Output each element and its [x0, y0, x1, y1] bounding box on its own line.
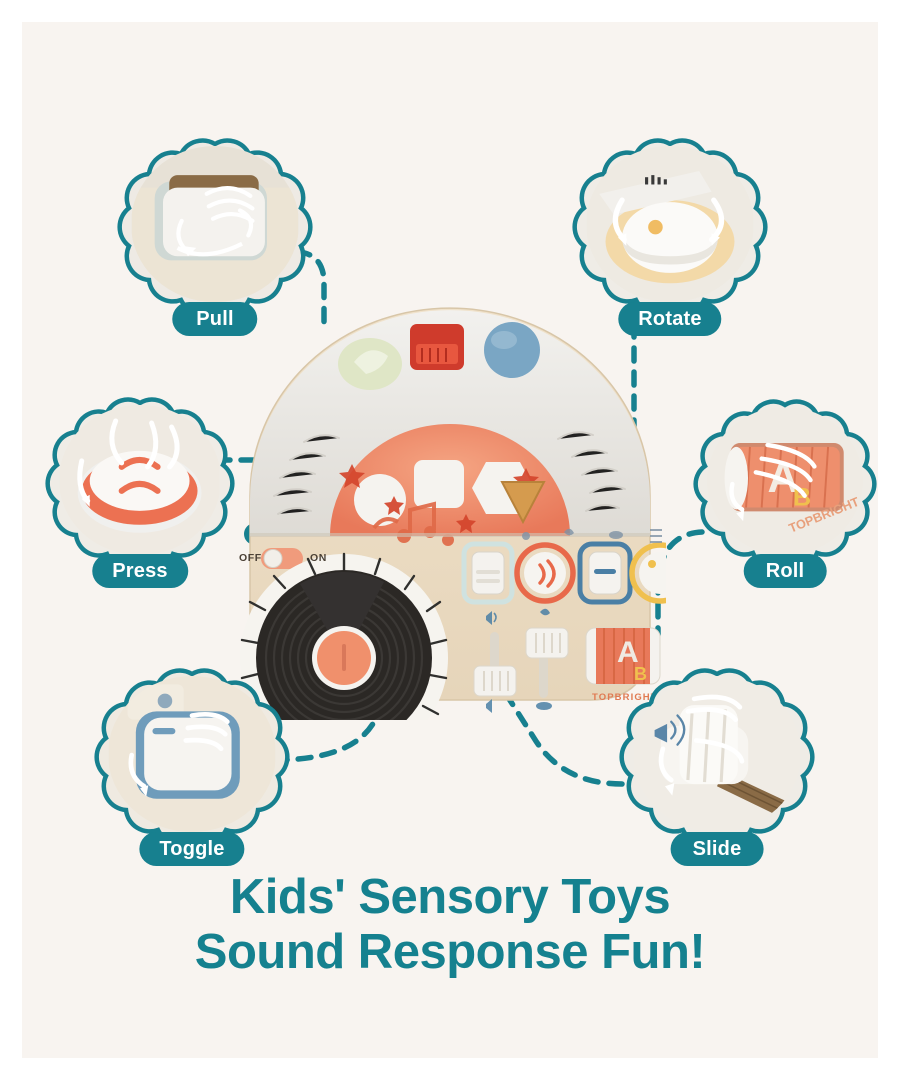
content-panel: A B OFF ON TOPBRIGHT [22, 22, 878, 1058]
press-sound-button [517, 545, 573, 601]
callout-press[interactable]: Press [44, 392, 236, 584]
toggle-photo [108, 676, 276, 832]
headline-line-2: Sound Response Fun! [22, 925, 878, 980]
callout-label-press: Press [92, 554, 188, 588]
power-off-label: OFF [239, 552, 262, 564]
callout-pull[interactable]: Pull [115, 132, 315, 332]
callout-roll[interactable]: A B TOPBRIGHT Roll [692, 394, 878, 584]
rotate-photo [586, 146, 754, 302]
press-photo [59, 405, 220, 555]
power-on-label: ON [310, 552, 327, 564]
callout-rotate[interactable]: Rotate [570, 132, 770, 332]
headline-line-1: Kids' Sensory Toys [22, 870, 878, 925]
callout-toggle[interactable]: Toggle [92, 662, 292, 862]
callout-label-roll: Roll [744, 554, 827, 588]
callout-label-rotate: Rotate [618, 302, 721, 336]
callout-label-toggle: Toggle [139, 832, 244, 866]
roll-photo: A B TOPBRIGHT [707, 407, 863, 555]
pull-photo [131, 146, 299, 302]
callout-slide[interactable]: Slide [617, 662, 817, 862]
page-title: Kids' Sensory Toys Sound Response Fun! [22, 870, 878, 980]
slide-photo [633, 676, 801, 832]
infographic-stage: A B OFF ON TOPBRIGHT [0, 0, 900, 1080]
callout-label-slide: Slide [671, 832, 764, 866]
product-image: A B OFF ON TOPBRIGHT [234, 300, 666, 720]
callout-label-pull: Pull [172, 302, 257, 336]
